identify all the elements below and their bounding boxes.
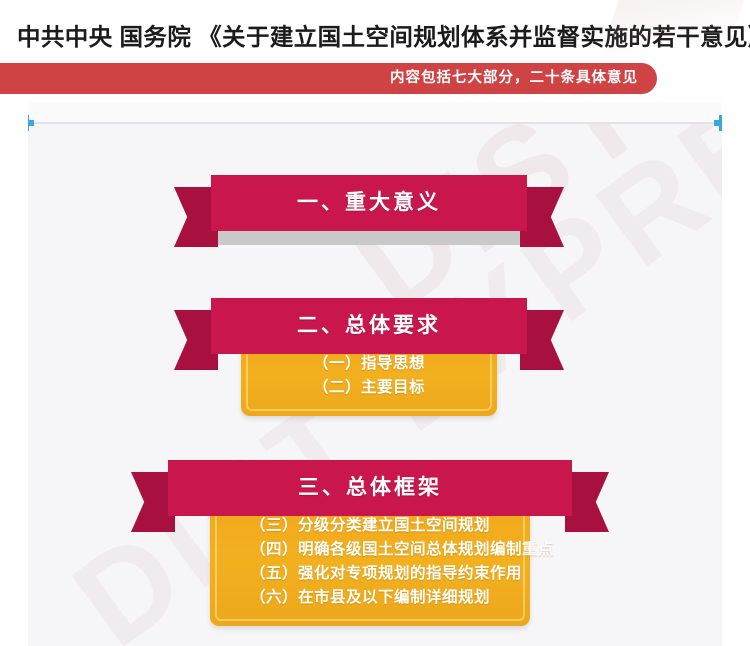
header-subtitle-text: 内容包括七大部分，二十条具体意见 <box>390 63 638 94</box>
header-subtitle-ribbon: 内容包括七大部分，二十条具体意见 <box>0 63 657 94</box>
section-block-3: （三）分级分类建立国土空间规划 （四）明确各级国土空间总体规划编制重点 （五）强… <box>168 460 572 516</box>
section-ribbon: 三、总体框架 <box>168 460 572 516</box>
list-item: （六）在市县及以下编制详细规划 <box>250 586 530 610</box>
section-block-2: （一）指导思想 （二）主要目标 二、总体要求 <box>211 298 527 354</box>
section-title: 三、总体框架 <box>168 460 572 516</box>
section-title: 二、总体要求 <box>211 298 527 354</box>
page-title: 中共中央 国务院 《关于建立国土空间规划体系并监督实施的若干意见》 <box>17 22 750 52</box>
section-ribbon: 一、重大意义 <box>211 175 527 231</box>
panel-top-strip <box>28 102 722 122</box>
section-item-list: （三）分级分类建立国土空间规划 （四）明确各级国土空间总体规划编制重点 （五）强… <box>210 504 530 626</box>
plus-marker-icon <box>28 115 34 131</box>
ribbon-shadow <box>217 231 537 245</box>
list-item: （二）主要目标 <box>241 376 497 400</box>
list-item: （一）指导思想 <box>241 352 497 376</box>
panel-divider-line <box>28 122 722 124</box>
header: 中共中央 国务院 《关于建立国土空间规划体系并监督实施的若干意见》 内容包括七大… <box>0 0 750 102</box>
section-ribbon: 二、总体要求 <box>211 298 527 354</box>
list-item: （四）明确各级国土空间总体规划编制重点 <box>250 538 530 562</box>
section-block-1: 一、重大意义 <box>211 175 527 231</box>
list-item: （五）强化对专项规划的指导约束作用 <box>250 562 530 586</box>
content-panel: DIST EXPRESS DIST EXPRESS 一、重大意义 （一）指导思想… <box>28 102 722 646</box>
plus-marker-icon <box>714 115 722 131</box>
list-item: （三）分级分类建立国土空间规划 <box>250 514 530 538</box>
section-item-box: （三）分级分类建立国土空间规划 （四）明确各级国土空间总体规划编制重点 （五）强… <box>210 504 530 626</box>
section-title: 一、重大意义 <box>211 175 527 231</box>
